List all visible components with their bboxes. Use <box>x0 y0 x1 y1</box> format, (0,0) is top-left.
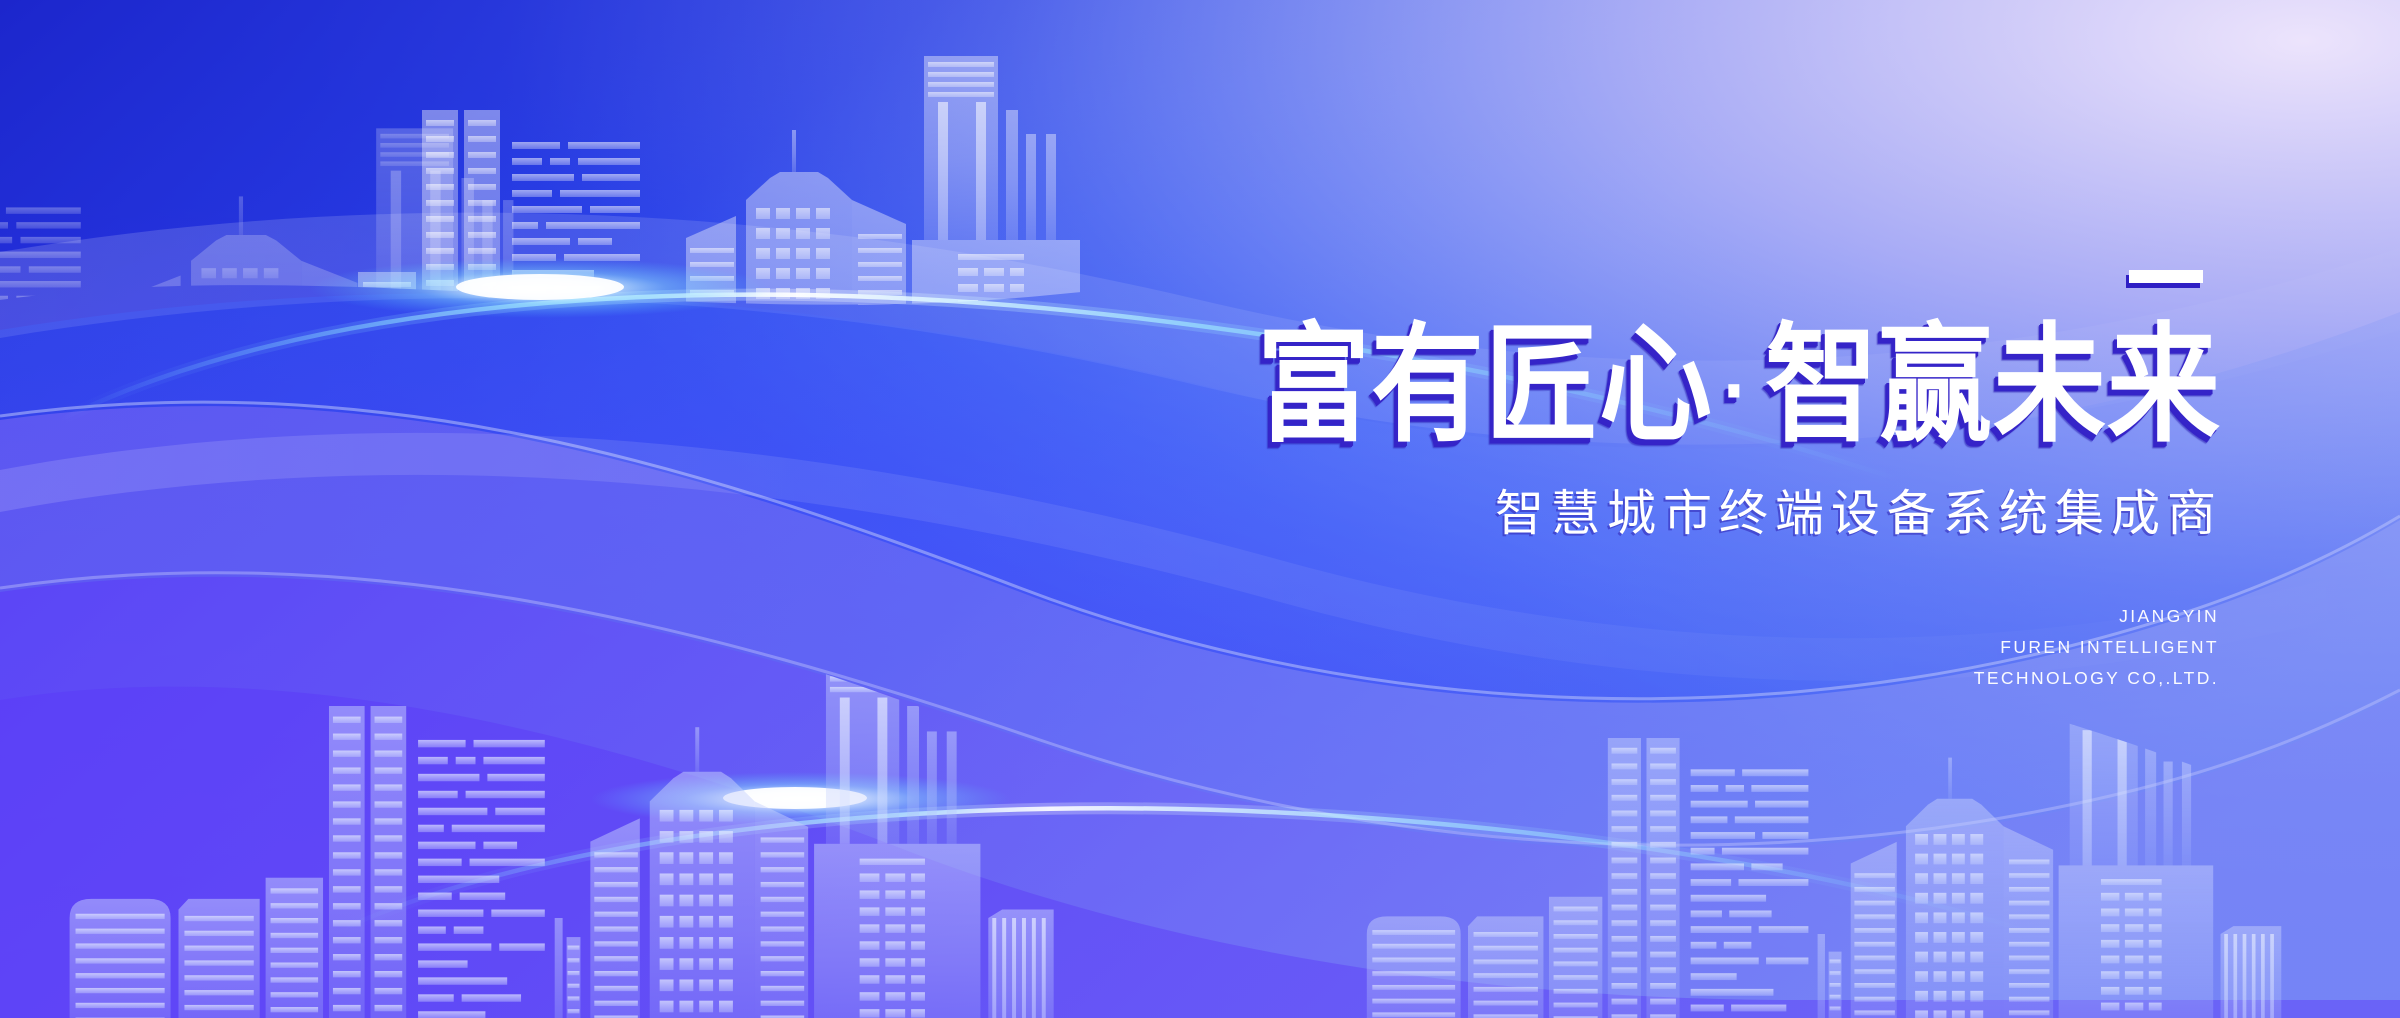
company-name-en: JIANGYIN FUREN INTELLIGENT TECHNOLOGY CO… <box>1025 601 2225 694</box>
headline-separator-dot-icon: · <box>1713 340 1765 440</box>
banner-root: 富有匠心·智赢未来 智慧城市终端设备系统集成商 JIANGYIN FUREN I… <box>0 0 2400 1018</box>
company-line-3: TECHNOLOGY CO,.LTD. <box>1025 663 2219 694</box>
headline-right: 智赢未来 <box>1765 313 2221 457</box>
company-line-1: JIANGYIN <box>1025 601 2219 632</box>
company-line-2: FUREN INTELLIGENT <box>1025 632 2219 663</box>
page-subtitle: 智慧城市终端设备系统集成商 <box>1025 490 2225 539</box>
accent-dash-icon <box>2129 270 2203 283</box>
page-title: 富有匠心·智赢未来 <box>1025 321 2225 450</box>
skyline-lower-right-group <box>1367 685 2281 1018</box>
headline-block: 富有匠心·智赢未来 智慧城市终端设备系统集成商 JIANGYIN FUREN I… <box>1025 270 2225 694</box>
headline-left: 富有匠心 <box>1257 313 1713 457</box>
skyline-lower-left-group <box>70 649 1054 1018</box>
